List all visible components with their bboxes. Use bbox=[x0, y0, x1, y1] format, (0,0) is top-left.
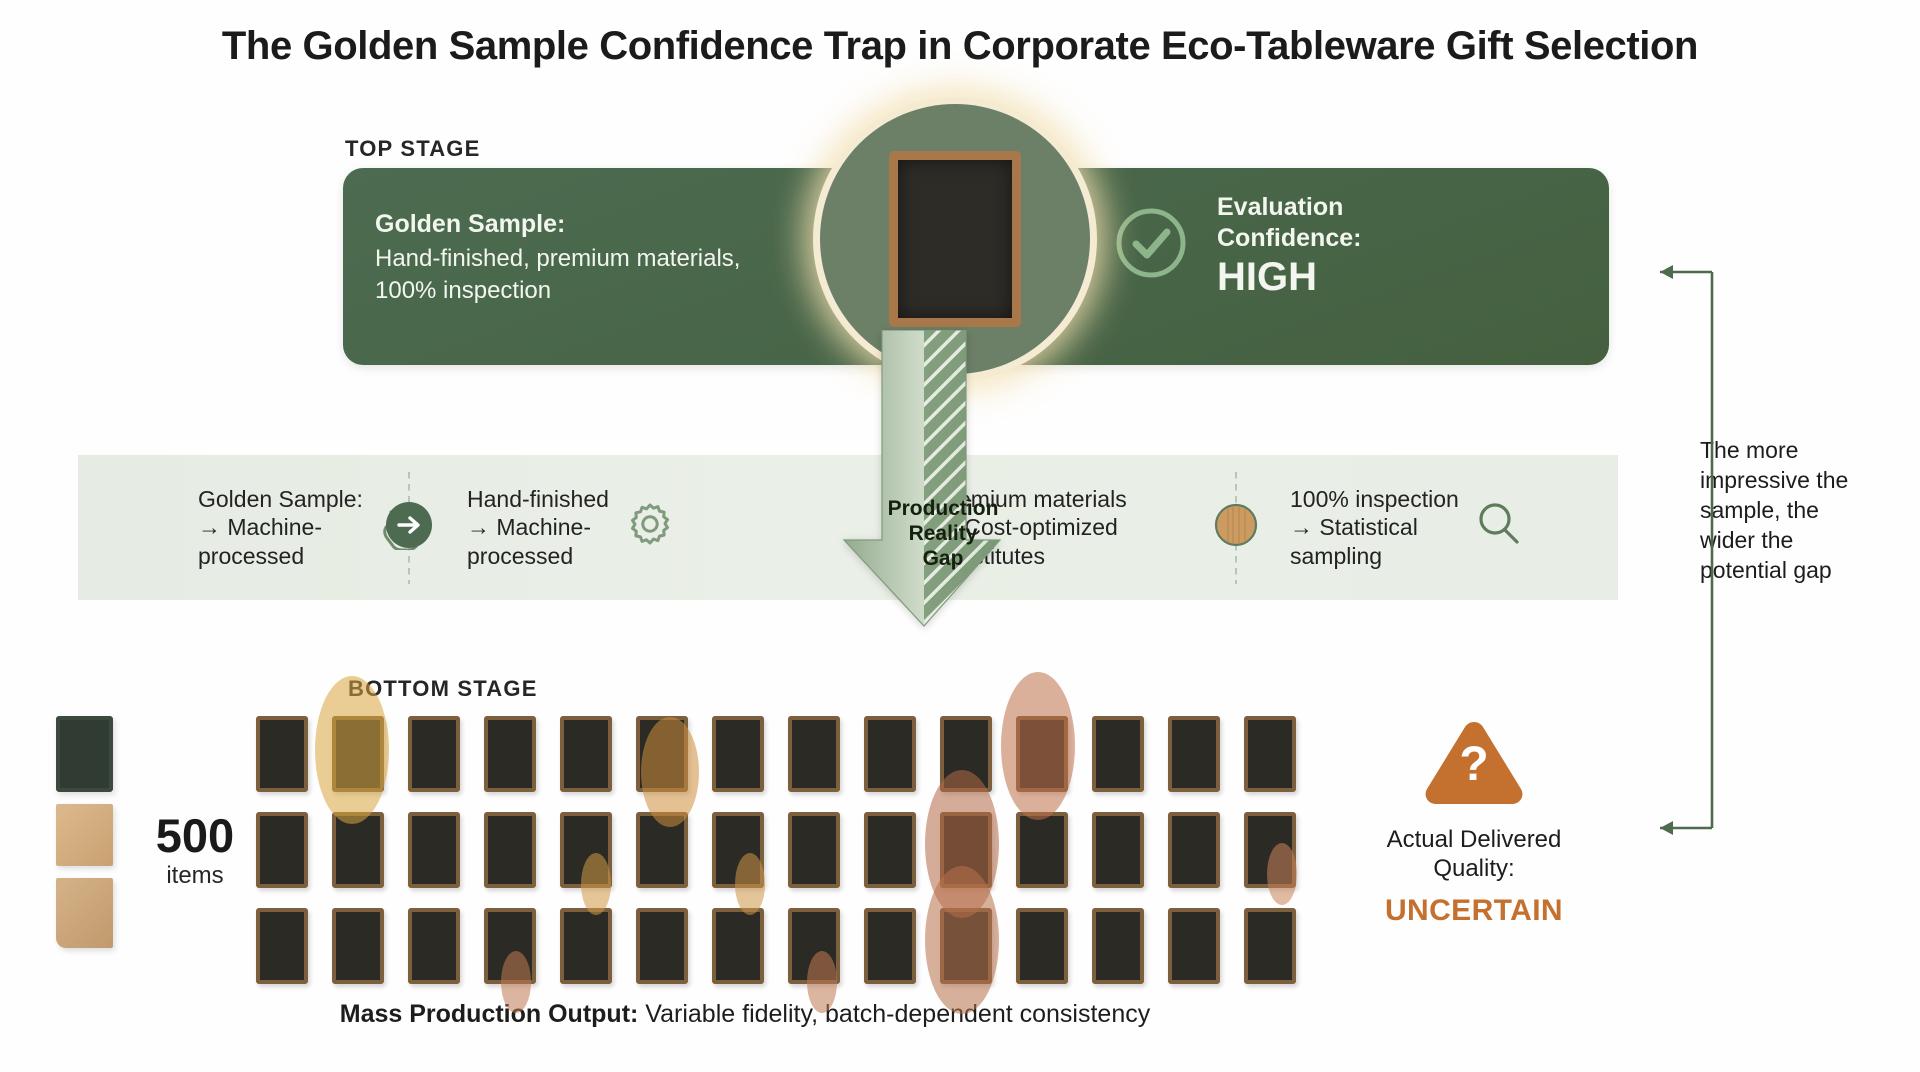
cutlery-package bbox=[560, 716, 612, 792]
gap-label-line3: Gap bbox=[880, 546, 1006, 571]
cutlery-package bbox=[1016, 908, 1068, 984]
down-arrow-hatched-icon bbox=[838, 330, 1010, 630]
delivered-quality-line2: Quality: bbox=[1340, 854, 1608, 883]
evaluation-confidence-block: Evaluation Confidence: HIGH bbox=[1113, 192, 1361, 300]
bracket-arrows-icon bbox=[1600, 250, 1730, 855]
kraft-sleeve-icon bbox=[56, 878, 113, 948]
cutlery-package bbox=[1168, 908, 1220, 984]
cutlery-package bbox=[1092, 812, 1144, 888]
item-count-number: 500 bbox=[140, 812, 250, 859]
grid-row bbox=[256, 716, 1326, 796]
cutlery-package bbox=[940, 908, 992, 984]
cutlery-package bbox=[256, 812, 308, 888]
cutlery-package bbox=[712, 716, 764, 792]
magnifier-icon bbox=[1475, 500, 1523, 555]
delivered-quality-line1: Actual Delivered bbox=[1340, 825, 1608, 854]
kraft-paper-icon bbox=[56, 804, 113, 866]
gap-cell-0: Golden Sample: → Machine- processed bbox=[78, 485, 408, 571]
gap-cell-0-line1: Golden Sample: bbox=[198, 485, 363, 514]
gap-cell-0-line3: processed bbox=[198, 542, 363, 571]
gap-cell-1-line2: → Machine- bbox=[467, 513, 609, 542]
gap-cell-0-line2: → Machine- bbox=[198, 513, 363, 542]
cutlery-package bbox=[332, 716, 384, 792]
check-circle-icon bbox=[1113, 205, 1189, 286]
cutlery-package bbox=[408, 812, 460, 888]
cutlery-package bbox=[864, 812, 916, 888]
cutlery-package bbox=[484, 908, 536, 984]
cutlery-package bbox=[1244, 716, 1296, 792]
warning-question-triangle-icon: ? bbox=[1340, 716, 1608, 813]
cutlery-package bbox=[1244, 812, 1296, 888]
caption-rest: Variable fidelity, batch-dependent consi… bbox=[638, 1000, 1150, 1028]
gap-cell-3-line1: 100% inspection bbox=[1290, 485, 1459, 514]
production-reality-gap-label: Production Reality Gap bbox=[880, 496, 1006, 572]
cutlery-package bbox=[864, 716, 916, 792]
gap-label-line1: Production bbox=[880, 496, 1006, 521]
cutlery-package bbox=[712, 812, 764, 888]
gap-label-line2: Reality bbox=[880, 521, 1006, 546]
infographic-canvas: The Golden Sample Confidence Trap in Cor… bbox=[0, 0, 1920, 1072]
gear-icon bbox=[625, 499, 675, 556]
bottom-stage-label: BOTTOM STAGE bbox=[348, 676, 538, 702]
cutlery-package bbox=[332, 812, 384, 888]
item-count-block: 500 items bbox=[140, 812, 250, 890]
cutlery-package bbox=[256, 716, 308, 792]
grid-row bbox=[256, 812, 1326, 892]
cutlery-package bbox=[1016, 812, 1068, 888]
cutlery-package bbox=[636, 812, 688, 888]
gap-cell-1-line1: Hand-finished bbox=[467, 485, 609, 514]
gap-cell-3-line2: → Statistical bbox=[1290, 513, 1459, 542]
cutlery-package bbox=[788, 716, 840, 792]
cutlery-package bbox=[484, 716, 536, 792]
cutlery-package bbox=[864, 908, 916, 984]
cutlery-package bbox=[560, 812, 612, 888]
delivered-quality-block: ? Actual Delivered Quality: UNCERTAIN bbox=[1340, 716, 1608, 928]
mass-production-caption: Mass Production Output: Variable fidelit… bbox=[0, 1000, 1490, 1029]
page-title: The Golden Sample Confidence Trap in Cor… bbox=[0, 24, 1920, 69]
confidence-value: HIGH bbox=[1217, 255, 1361, 300]
golden-sample-label: Golden Sample: bbox=[375, 210, 805, 239]
cutlery-package bbox=[332, 908, 384, 984]
golden-sample-description: Hand-finished, premium materials, 100% i… bbox=[375, 243, 805, 307]
cutlery-package bbox=[1244, 908, 1296, 984]
confidence-line-2: Confidence: bbox=[1217, 223, 1361, 254]
delivered-quality-value: UNCERTAIN bbox=[1340, 894, 1608, 928]
mass-production-grid bbox=[256, 716, 1326, 986]
golden-sample-text-block: Golden Sample: Hand-finished, premium ma… bbox=[375, 210, 805, 307]
cutlery-package bbox=[1092, 908, 1144, 984]
arrow-right-circle-icon bbox=[385, 501, 433, 554]
cutlery-package bbox=[940, 812, 992, 888]
cutlery-package bbox=[1168, 812, 1220, 888]
cutlery-package bbox=[1092, 716, 1144, 792]
item-count-unit: items bbox=[140, 862, 250, 890]
cutlery-package bbox=[788, 812, 840, 888]
gap-cell-1-line3: processed bbox=[467, 542, 609, 571]
cutlery-package bbox=[940, 716, 992, 792]
svg-text:?: ? bbox=[1459, 738, 1488, 791]
confidence-line-1: Evaluation bbox=[1217, 192, 1361, 223]
cutlery-package bbox=[560, 908, 612, 984]
cutlery-package bbox=[712, 908, 764, 984]
gap-cell-3: 100% inspection → Statistical sampling bbox=[1264, 485, 1564, 571]
cutlery-package bbox=[788, 908, 840, 984]
cutlery-package bbox=[484, 812, 536, 888]
cutlery-package bbox=[408, 908, 460, 984]
top-stage-label: TOP STAGE bbox=[345, 136, 481, 162]
cutlery-package bbox=[256, 908, 308, 984]
packaging-legend bbox=[56, 716, 113, 960]
grid-row bbox=[256, 908, 1326, 988]
wood-disc-icon bbox=[1214, 503, 1258, 552]
cutlery-package bbox=[1016, 716, 1068, 792]
gap-cell-3-line3: sampling bbox=[1290, 542, 1459, 571]
cutlery-package bbox=[636, 908, 688, 984]
cutlery-package bbox=[408, 716, 460, 792]
cutlery-package bbox=[636, 716, 688, 792]
cutlery-package bbox=[1168, 716, 1220, 792]
gap-cell-1: Hand-finished → Machine- processed bbox=[439, 485, 739, 571]
cutlery-box-dark-icon bbox=[56, 716, 113, 792]
caption-strong: Mass Production Output: bbox=[340, 1000, 639, 1028]
